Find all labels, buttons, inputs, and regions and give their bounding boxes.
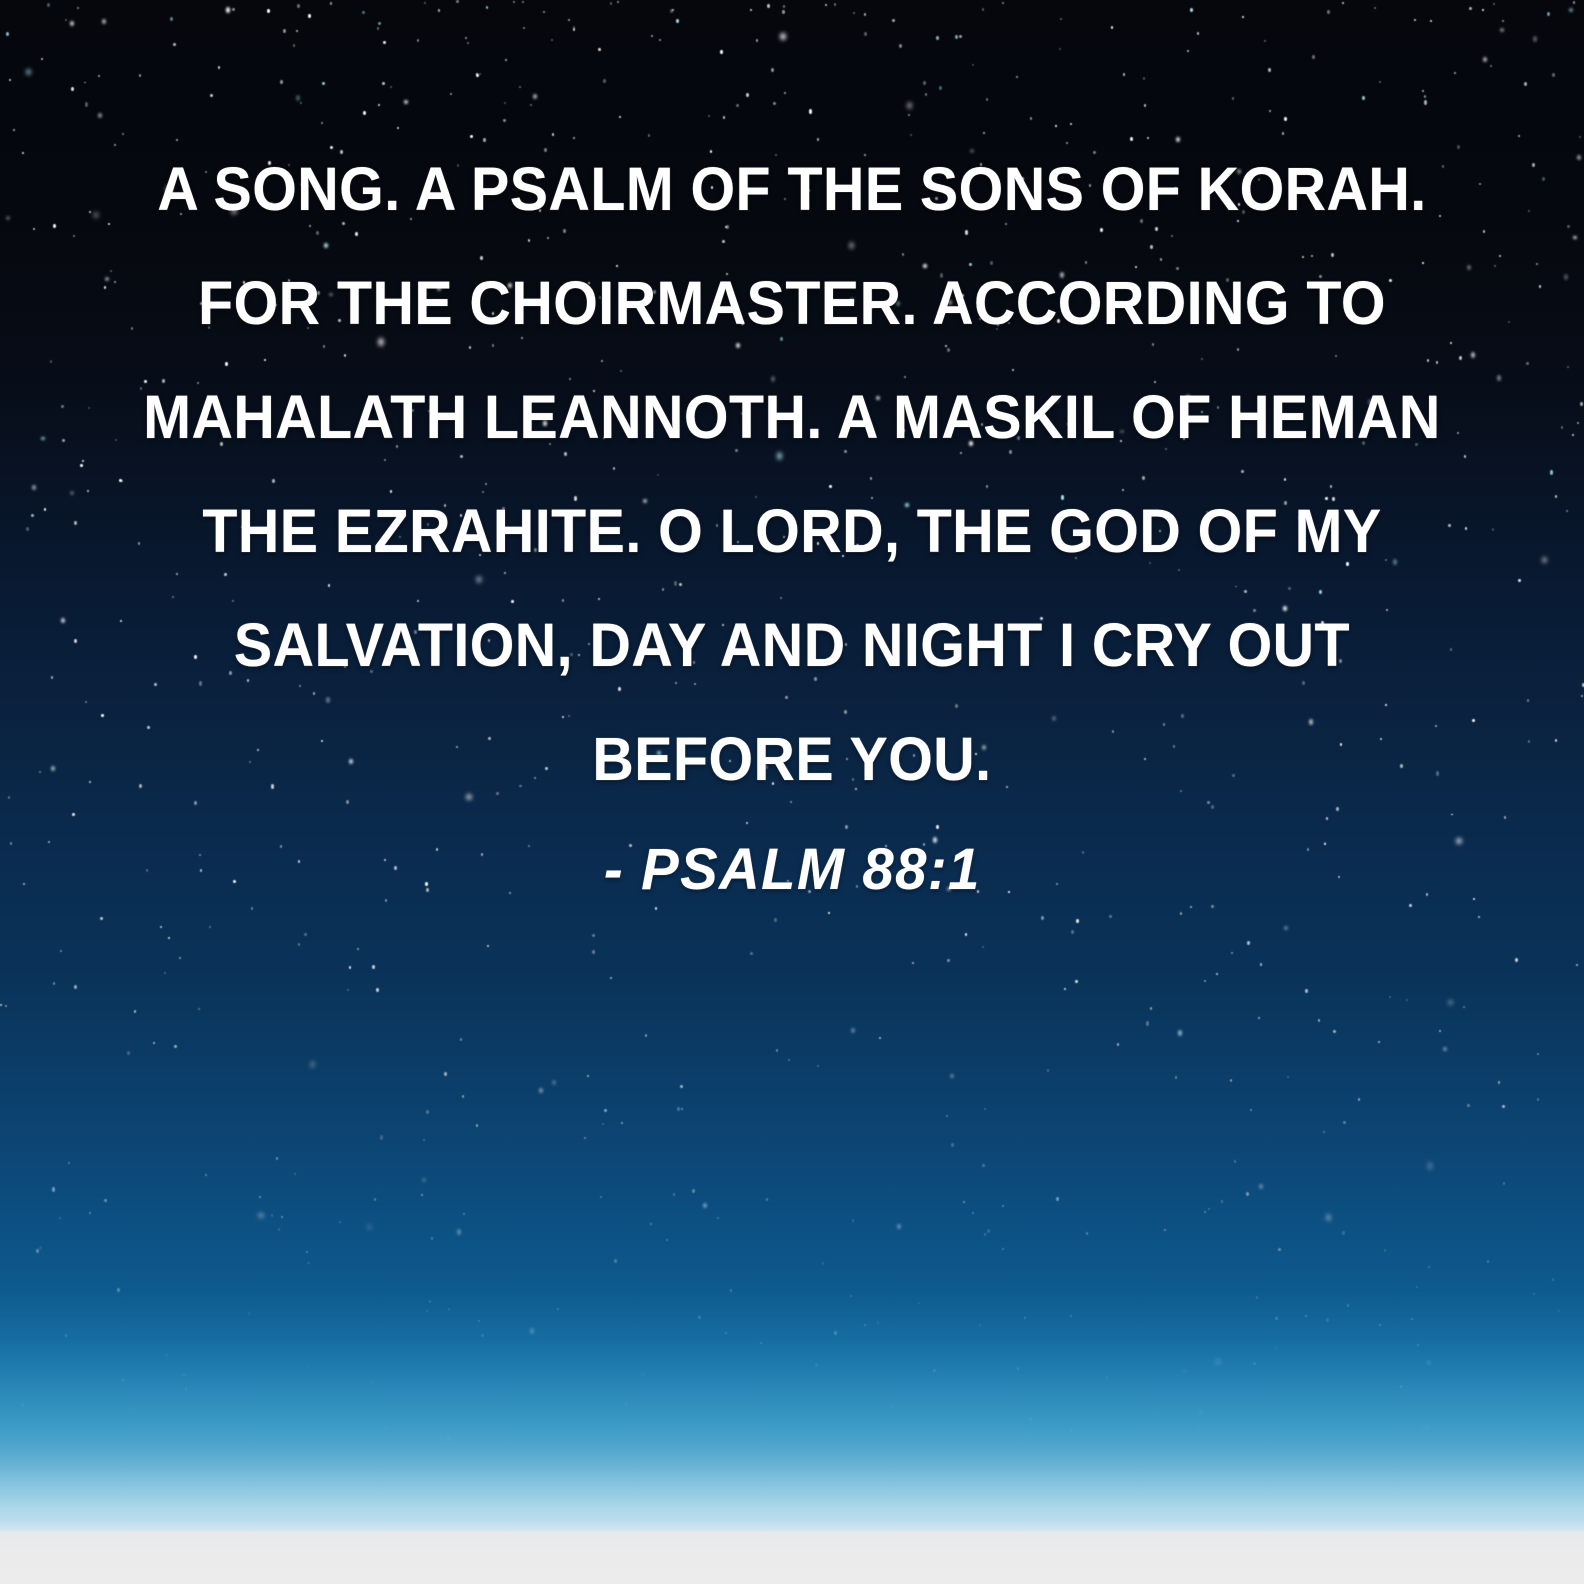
quote-line: For the choirmaster. According to: [48, 246, 1537, 360]
verse-attribution: - Psalm 88:1: [0, 836, 1584, 903]
quote-line: salvation, day and night I cry out: [48, 588, 1537, 702]
ground-plane: [0, 1532, 1584, 1584]
attribution-label: - Psalm 88:1: [604, 836, 981, 903]
verse-image-canvas: A Song. A Psalm of the Sons of Korah. Fo…: [0, 0, 1584, 1584]
quote-text-block: A Song. A Psalm of the Sons of Korah. Fo…: [0, 132, 1584, 816]
quote-line: A Song. A Psalm of the Sons of Korah.: [48, 132, 1537, 246]
quote-line: Mahalath Leannoth. A Maskil of Heman: [48, 360, 1537, 474]
quote-line: before you.: [48, 702, 1537, 816]
quote-line: the Ezrahite. O LORD, the God of my: [48, 474, 1537, 588]
